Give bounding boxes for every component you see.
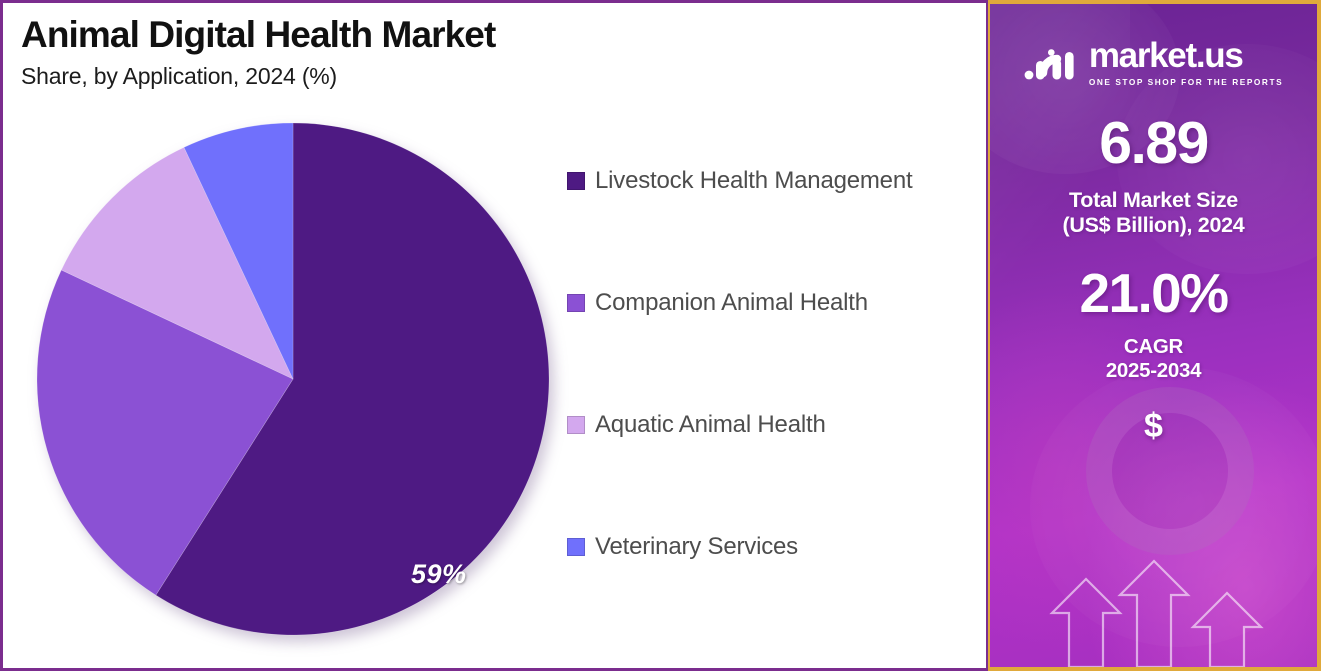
legend-swatch-icon: [567, 172, 585, 190]
cagr-stat: 21.0% CAGR 2025-2034: [990, 266, 1317, 383]
legend-swatch-icon: [567, 294, 585, 312]
cagr-label-line-1: CAGR: [990, 335, 1317, 359]
legend-label: Aquatic Animal Health: [595, 411, 826, 439]
market-size-label-line-2: (US$ Billion), 2024: [990, 213, 1317, 238]
brand-stats-panel: market.us ONE STOP SHOP FOR THE REPORTS …: [988, 0, 1321, 671]
legend-label: Veterinary Services: [595, 533, 798, 561]
market-size-label: Total Market Size (US$ Billion), 2024: [990, 188, 1317, 238]
market-size-stat: 6.89 Total Market Size (US$ Billion), 20…: [990, 114, 1317, 238]
page-title: Animal Digital Health Market: [21, 15, 986, 54]
chart-header: Animal Digital Health Market Share, by A…: [3, 3, 986, 90]
growth-arrows-icon: [990, 537, 1321, 667]
legend-item-livestock-health-management[interactable]: Livestock Health Management: [567, 169, 979, 193]
legend-swatch-icon: [567, 538, 585, 556]
market-us-logo-icon: [1024, 43, 1080, 83]
cagr-label-line-2: 2025-2034: [990, 359, 1317, 383]
legend-item-aquatic-animal-health[interactable]: Aquatic Animal Health: [567, 413, 979, 437]
legend-swatch-icon: [567, 416, 585, 434]
legend-label: Livestock Health Management: [595, 167, 912, 195]
brand-content: market.us ONE STOP SHOP FOR THE REPORTS …: [990, 4, 1317, 443]
pie-chart: 59%: [36, 122, 556, 642]
dollar-sign-icon: $: [990, 409, 1317, 443]
market-size-label-line-1: Total Market Size: [990, 188, 1317, 213]
legend-item-companion-animal-health[interactable]: Companion Animal Health: [567, 291, 979, 315]
chart-legend: Livestock Health Management Companion An…: [567, 169, 979, 559]
logo-wordmark: market.us: [1089, 38, 1283, 73]
brand-logo[interactable]: market.us ONE STOP SHOP FOR THE REPORTS: [990, 4, 1317, 87]
pie-slice-label-livestock: 59%: [411, 559, 467, 590]
cagr-label: CAGR 2025-2034: [990, 335, 1317, 383]
pie-slices-container: [36, 122, 550, 636]
pie-svg: [36, 122, 550, 636]
cagr-value: 21.0%: [990, 266, 1317, 321]
chart-subtitle: Share, by Application, 2024 (%): [21, 63, 986, 90]
logo-tagline: ONE STOP SHOP FOR THE REPORTS: [1089, 77, 1283, 87]
chart-panel: Animal Digital Health Market Share, by A…: [0, 0, 988, 671]
infographic-root: Animal Digital Health Market Share, by A…: [0, 0, 1321, 671]
legend-label: Companion Animal Health: [595, 289, 868, 317]
legend-item-veterinary-services[interactable]: Veterinary Services: [567, 535, 979, 559]
logo-text-block: market.us ONE STOP SHOP FOR THE REPORTS: [1089, 38, 1283, 87]
market-size-value: 6.89: [990, 114, 1317, 173]
